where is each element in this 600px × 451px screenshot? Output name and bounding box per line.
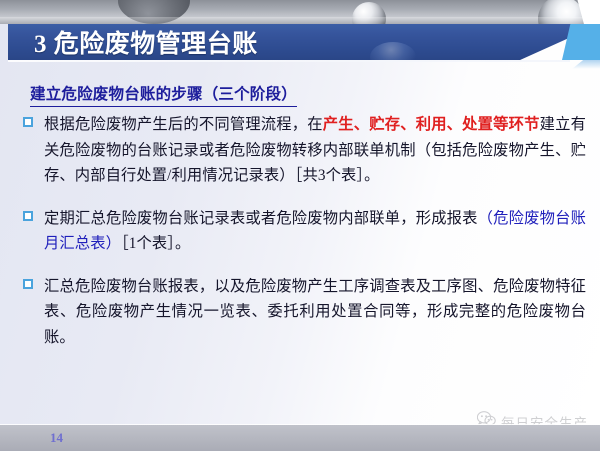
slide-title: 3 危险废物管理台账 xyxy=(34,24,258,60)
page-number: 14 xyxy=(50,425,63,451)
top-decoration-band xyxy=(0,0,600,24)
bullet-text: 定期汇总危险废物台账记录表或者危险废物内部联单，形成报表（危险废物台账月汇总表）… xyxy=(44,206,586,257)
bullet-segment: 根据危险废物产生后的不同管理流程，在 xyxy=(44,116,323,133)
list-item: 根据危险废物产生后的不同管理流程，在产生、贮存、利用、处置等环节建立有关危险废物… xyxy=(0,112,600,189)
content-subtitle: 建立危险废物台账的步骤（三个阶段） xyxy=(30,82,297,107)
list-item: 定期汇总危险废物台账记录表或者危险废物内部联单，形成报表（危险废物台账月汇总表）… xyxy=(0,206,600,257)
list-item: 汇总危险废物台账报表，以及危险废物产生工序调查表及工序图、危险废物特征表、危险废… xyxy=(0,274,600,351)
bullet-segment: 定期汇总危险废物台账记录表或者危险废物内部联单，形成报表 xyxy=(44,210,478,227)
top-right-notch xyxy=(558,0,600,24)
bullet-text: 汇总危险废物台账报表，以及危险废物产生工序调查表及工序图、危险废物特征表、危险废… xyxy=(44,274,586,351)
bullet-list: 根据危险废物产生后的不同管理流程，在产生、贮存、利用、处置等环节建立有关危险废物… xyxy=(0,112,600,367)
bullet-segment-highlight-red: 产生、贮存、利用、处置等环节 xyxy=(323,116,540,133)
hollow-square-bullet-icon xyxy=(23,117,33,127)
slide-content: 建立危险废物台账的步骤（三个阶段） 根据危险废物产生后的不同管理流程，在产生、贮… xyxy=(0,62,600,415)
hollow-square-bullet-icon xyxy=(23,211,33,221)
slide-footer: 14 xyxy=(0,425,600,451)
bullet-segment: 汇总危险废物台账报表，以及危险废物产生工序调查表及工序图、危险废物特征表、危险废… xyxy=(44,278,586,346)
presentation-slide: 3 危险废物管理台账 建立危险废物台账的步骤（三个阶段） 根据危险废物产生后的不… xyxy=(0,0,600,451)
bullet-segment: ［1个表］。 xyxy=(121,235,190,252)
bullet-text: 根据危险废物产生后的不同管理流程，在产生、贮存、利用、处置等环节建立有关危险废物… xyxy=(44,112,586,189)
hollow-square-bullet-icon xyxy=(23,279,33,289)
band-lower-highlight xyxy=(0,17,600,24)
